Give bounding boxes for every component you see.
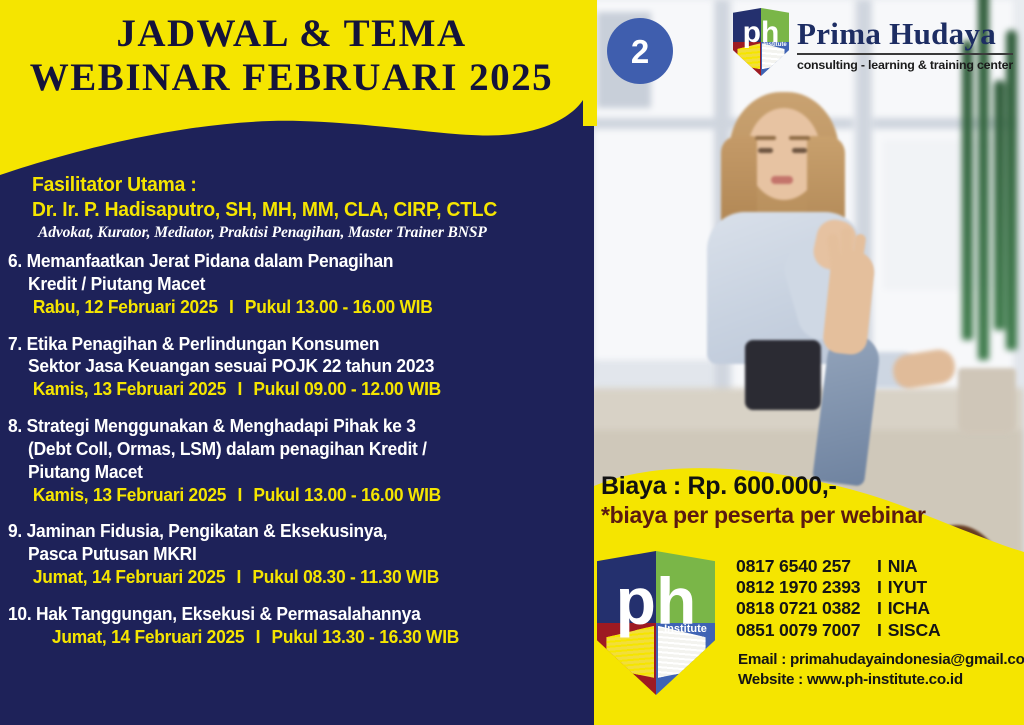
price-block: Biaya : Rp. 600.000,- *biaya per peserta… <box>601 472 926 529</box>
schedule-item-when: Jumat, 14 Februari 2025 I Pukul 13.30 - … <box>8 626 557 649</box>
shield-institute-label: Institute <box>656 623 715 635</box>
schedule-item: 9. Jaminan Fidusia, Pengikatan & Eksekus… <box>8 520 583 589</box>
schedule-item-time: Pukul 13.30 - 16.30 WIB <box>272 627 460 647</box>
schedule-item-title-line-1: Hak Tanggungan, Eksekusi & Permasalahann… <box>36 604 420 624</box>
ph-shield-logo-icon: ph Institute <box>733 8 789 76</box>
contact-number: 0851 0079 7007 <box>736 620 871 641</box>
title-line-1: JADWAL & TEMA <box>0 14 583 54</box>
schedule-item-title-line-2: Pasca Putusan MKRI <box>8 543 557 566</box>
schedule-item-title-line-3: Piutang Macet <box>8 461 557 484</box>
schedule-item-title: 6. Memanfaatkan Jerat Pidana dalam Penag… <box>8 250 557 273</box>
brand-divider <box>797 53 1013 55</box>
facilitator-heading: Fasilitator Utama : <box>32 172 497 197</box>
contact-row: 0817 6540 257INIA <box>736 556 940 577</box>
schedule-item: 10. Hak Tanggungan, Eksekusi & Permasala… <box>8 603 583 649</box>
brand-header: ph Institute Prima Hudaya consulting - l… <box>733 8 1013 76</box>
schedule-item-separator: I <box>231 485 249 505</box>
schedule-item-title: 8. Strategi Menggunakan & Menghadapi Pih… <box>8 415 557 438</box>
schedule-item-title-line-2: Kredit / Piutang Macet <box>8 273 557 296</box>
website-line: Website : www.ph-institute.co.id <box>738 670 1024 690</box>
schedule-item-title-line-1: Etika Penagihan & Perlindungan Konsumen <box>27 334 380 354</box>
contact-separator: I <box>871 598 888 618</box>
schedule-item: 8. Strategi Menggunakan & Menghadapi Pih… <box>8 415 583 506</box>
schedule-item-title-line-1: Memanfaatkan Jerat Pidana dalam Penagiha… <box>27 251 394 271</box>
facilitator-block: Fasilitator Utama : Dr. Ir. P. Hadisaput… <box>32 172 527 242</box>
schedule-item: 6. Memanfaatkan Jerat Pidana dalam Penag… <box>8 250 583 319</box>
schedule-item-date: Jumat, 14 Februari 2025 <box>52 627 244 647</box>
contact-name: SISCA <box>888 620 941 640</box>
schedule-item-when: Kamis, 13 Februari 2025 I Pukul 13.00 - … <box>8 484 557 507</box>
schedule-item-title: 10. Hak Tanggungan, Eksekusi & Permasala… <box>8 603 557 626</box>
contact-name: IYUT <box>888 577 927 597</box>
schedule-item-separator: I <box>249 627 267 647</box>
contact-row: 0851 0079 7007ISISCA <box>736 620 940 641</box>
schedule-item-title-line-2: (Debt Coll, Ormas, LSM) dalam penagihan … <box>8 438 557 461</box>
schedule-item-separator: I <box>231 379 249 399</box>
schedule-item-date: Kamis, 13 Februari 2025 <box>33 485 226 505</box>
contact-number: 0817 6540 257 <box>736 556 871 577</box>
contact-name: ICHA <box>888 598 930 618</box>
schedule-item-date: Rabu, 12 Februari 2025 <box>33 297 218 317</box>
left-panel: JADWAL & TEMA WEBINAR FEBRUARI 2025 Fasi… <box>0 0 583 725</box>
raised-hand <box>819 250 875 480</box>
contact-separator: I <box>871 577 888 597</box>
schedule-item-number: 9. <box>8 521 22 541</box>
contact-number: 0818 0721 0382 <box>736 598 871 619</box>
right-panel: 2 ph Institute Prima Hudaya consulting -… <box>583 0 1024 725</box>
schedule-item-title: 7. Etika Penagihan & Perlindungan Konsum… <box>8 333 557 356</box>
webinar-flyer: JADWAL & TEMA WEBINAR FEBRUARI 2025 Fasi… <box>0 0 1024 725</box>
schedule-item-title-line-2: Sektor Jasa Keuangan sesuai POJK 22 tahu… <box>8 355 557 378</box>
web-contact-block: Email : primahudayaindonesia@gmail.com W… <box>738 650 1024 690</box>
schedule-item-when: Jumat, 14 Februari 2025 I Pukul 08.30 - … <box>8 566 557 589</box>
page-number-badge: 2 <box>607 18 673 84</box>
schedule-item-title: 9. Jaminan Fidusia, Pengikatan & Eksekus… <box>8 520 557 543</box>
schedule-item-time: Pukul 13.00 - 16.00 WIB <box>253 485 441 505</box>
schedule-item-date: Kamis, 13 Februari 2025 <box>33 379 226 399</box>
schedule-item-title-line-1: Strategi Menggunakan & Menghadapi Pihak … <box>27 416 416 436</box>
schedule-item-time: Pukul 08.30 - 11.30 WIB <box>252 567 439 587</box>
schedule-item-number: 10. <box>8 604 31 624</box>
schedule-item-time: Pukul 09.00 - 12.00 WIB <box>253 379 441 399</box>
ph-institute-shield-logo-icon: ph Institute <box>597 551 715 695</box>
brand-tagline: consulting - learning & training center <box>797 58 1013 72</box>
contact-separator: I <box>871 620 888 640</box>
page-number-value: 2 <box>631 35 649 68</box>
schedule-item-date: Jumat, 14 Februari 2025 <box>33 567 225 587</box>
contact-name: NIA <box>888 556 918 576</box>
contact-number: 0812 1970 2393 <box>736 577 871 598</box>
schedule-item-number: 6. <box>8 251 22 271</box>
brand-name: Prima Hudaya <box>797 18 1013 49</box>
schedule-item-number: 8. <box>8 416 22 436</box>
facilitator-name: Dr. Ir. P. Hadisaputro, SH, MH, MM, CLA,… <box>32 197 497 222</box>
schedule-item-title-line-1: Jaminan Fidusia, Pengikatan & Eksekusiny… <box>27 521 388 541</box>
schedule-item-when: Rabu, 12 Februari 2025 I Pukul 13.00 - 1… <box>8 296 557 319</box>
yellow-corner-notch <box>583 0 597 126</box>
facilitator-credentials: Advokat, Kurator, Mediator, Praktisi Pen… <box>38 224 527 242</box>
price-amount: Biaya : Rp. 600.000,- <box>601 472 926 502</box>
page-title: JADWAL & TEMA WEBINAR FEBRUARI 2025 <box>0 14 583 98</box>
schedule-item-time: Pukul 13.00 - 16.00 WIB <box>245 297 433 317</box>
contact-list: 0817 6540 257INIA 0812 1970 2393IIYUT 08… <box>736 556 940 641</box>
title-line-2: WEBINAR FEBRUARI 2025 <box>0 58 583 98</box>
schedule-list: 6. Memanfaatkan Jerat Pidana dalam Penag… <box>8 250 583 663</box>
contact-separator: I <box>871 556 888 576</box>
price-note: *biaya per peserta per webinar <box>601 502 926 529</box>
contact-row: 0818 0721 0382IICHA <box>736 598 940 619</box>
shield-institute-label: Institute <box>761 42 789 48</box>
schedule-item-separator: I <box>230 567 248 587</box>
schedule-item-separator: I <box>222 297 240 317</box>
email-line: Email : primahudayaindonesia@gmail.com <box>738 650 1024 670</box>
plant-pot <box>958 368 1016 434</box>
schedule-item: 7. Etika Penagihan & Perlindungan Konsum… <box>8 333 583 402</box>
schedule-item-number: 7. <box>8 334 22 354</box>
contact-row: 0812 1970 2393IIYUT <box>736 577 940 598</box>
schedule-item-when: Kamis, 13 Februari 2025 I Pukul 09.00 - … <box>8 378 557 401</box>
